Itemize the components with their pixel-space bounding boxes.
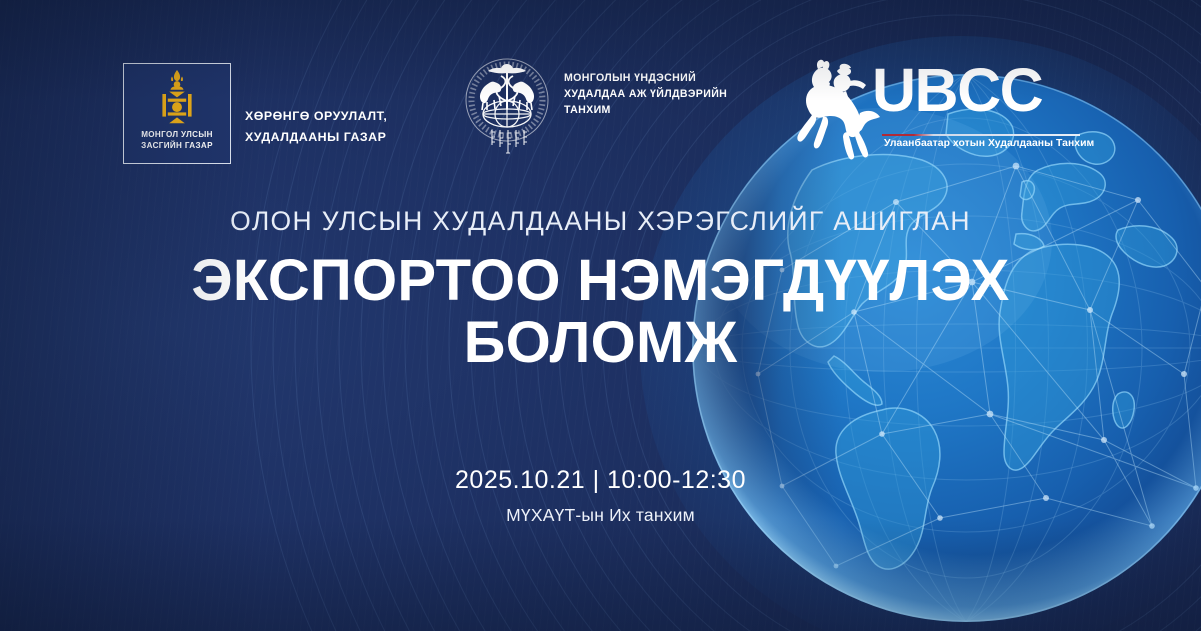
partner-logo-row: МОНГОЛ УЛСЫН ЗАСГИЙН ГАЗАР ХӨРӨНГӨ ОРУУЛ… xyxy=(0,0,1201,185)
headline-block: ОЛОН УЛСЫН ХУДАЛДААНЫ ХЭРЭГСЛИЙГ АШИГЛАН… xyxy=(0,206,1201,373)
government-emblem-caption-line1: МОНГОЛ УЛСЫН xyxy=(141,129,213,140)
government-emblem-caption: МОНГОЛ УЛСЫН ЗАСГИЙН ГАЗАР xyxy=(141,129,213,152)
government-logo-label-line2: ХУДАЛДААНЫ ГАЗАР xyxy=(245,127,387,148)
government-logo-label: ХӨРӨНГӨ ОРУУЛАЛТ, ХУДАЛДААНЫ ГАЗАР xyxy=(245,80,387,148)
event-meta-block: 2025.10.21 | 10:00-12:30 МҮХАҮТ-ын Их та… xyxy=(0,465,1201,526)
ubcc-subtitle: Улаанбаатар хотын Худалдааны Танхим xyxy=(884,138,1082,149)
government-logo-label-line1: ХӨРӨНГӨ ОРУУЛАЛТ, xyxy=(245,106,387,127)
government-emblem-box: МОНГОЛ УЛСЫН ЗАСГИЙН ГАЗАР xyxy=(123,63,231,164)
mncci-horses-caduceus-globe-emblem xyxy=(461,56,553,154)
ubcc-logo: UBCC Улаанбаатар хотын Худалдааны Танхим xyxy=(790,52,1080,164)
event-poster: МОНГОЛ УЛСЫН ЗАСГИЙН ГАЗАР ХӨРӨНГӨ ОРУУЛ… xyxy=(0,0,1201,631)
event-title: ЭКСПОРТОО НЭМЭГДҮҮЛЭХ БОЛОМЖ xyxy=(0,250,1201,373)
event-kicker: ОЛОН УЛСЫН ХУДАЛДААНЫ ХЭРЭГСЛИЙГ АШИГЛАН xyxy=(0,206,1201,236)
government-emblem-caption-line2: ЗАСГИЙН ГАЗАР xyxy=(141,140,213,151)
event-title-line1: ЭКСПОРТОО НЭМЭГДҮҮЛЭХ xyxy=(191,248,1009,313)
event-venue: МҮХАҮТ-ын Их танхим xyxy=(0,505,1201,526)
event-datetime: 2025.10.21 | 10:00-12:30 xyxy=(0,465,1201,496)
event-title-line2: БОЛОМЖ xyxy=(0,312,1201,373)
ubcc-wordmark: UBCC xyxy=(872,60,1042,121)
mncci-logo-label: МОНГОЛЫН ҮНДЭСНИЙ ХУДАЛДАА АЖ ҮЙЛДВЭРИЙН… xyxy=(564,56,727,118)
mncci-logo-label-line1: МОНГОЛЫН ҮНДЭСНИЙ xyxy=(564,70,727,86)
government-logo: МОНГОЛ УЛСЫН ЗАСГИЙН ГАЗАР ХӨРӨНГӨ ОРУУЛ… xyxy=(123,63,387,164)
mncci-logo-label-line3: ТАНХИМ xyxy=(564,102,727,118)
soyombo-emblem xyxy=(155,70,199,126)
mncci-logo: МОНГОЛЫН ҮНДЭСНИЙ ХУДАЛДАА АЖ ҮЙЛДВЭРИЙН… xyxy=(461,56,727,154)
mncci-logo-label-line2: ХУДАЛДАА АЖ ҮЙЛДВЭРИЙН xyxy=(564,86,727,102)
ubcc-divider-rule xyxy=(882,134,1080,136)
